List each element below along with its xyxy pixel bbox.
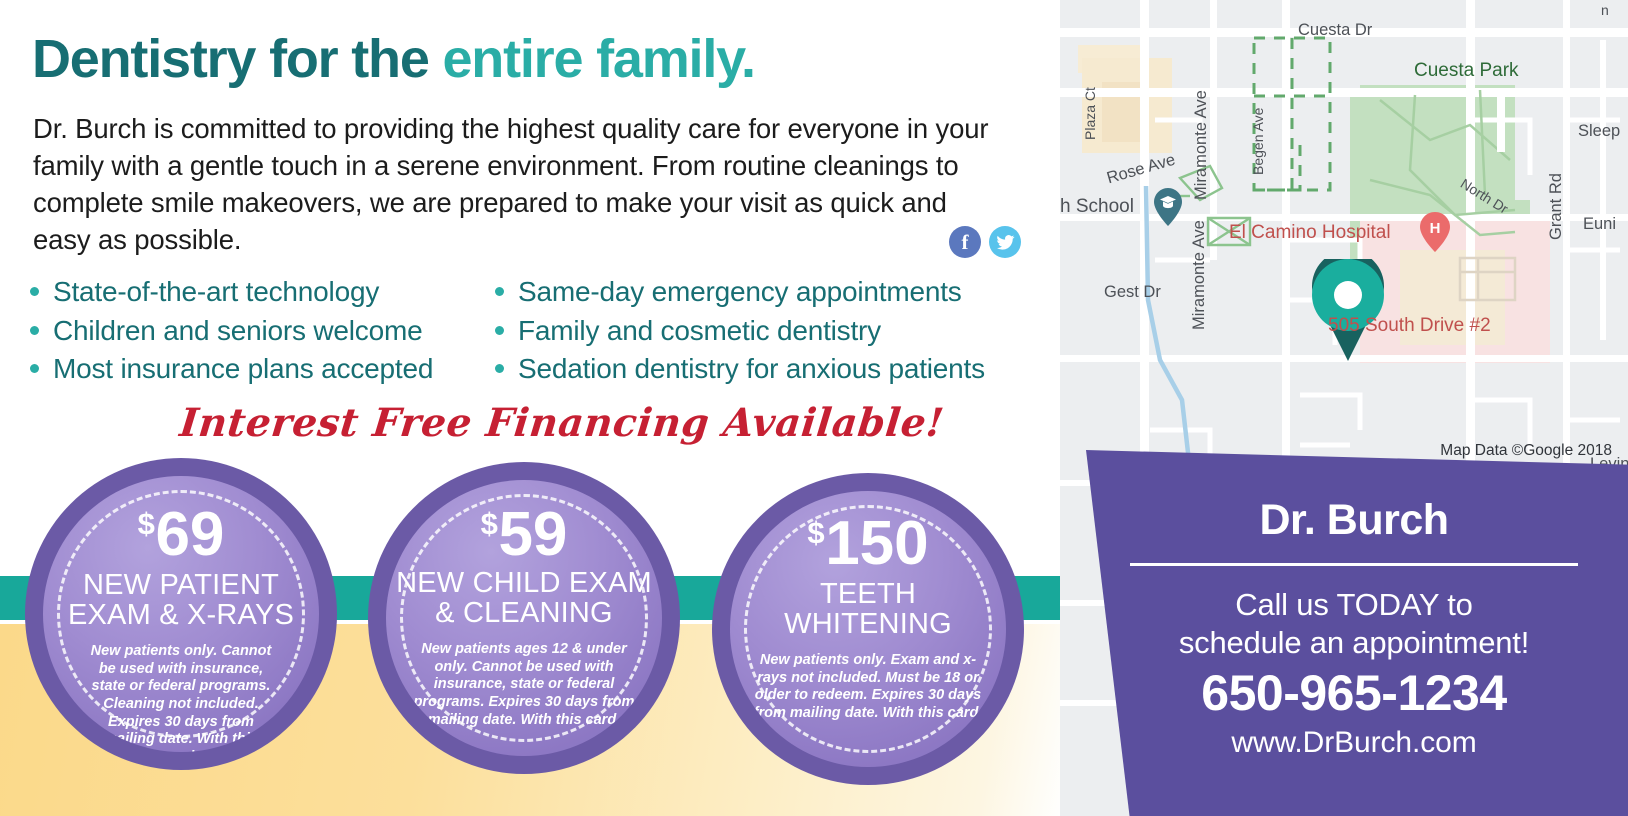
price-amount: 150: [825, 513, 928, 575]
cta-line-one: Call us TODAY to: [1130, 586, 1578, 624]
bullet-dot-icon: [495, 364, 504, 373]
call-to-action: Call us TODAY to schedule an appointment…: [1130, 586, 1578, 662]
map-label-el-camino-hospital: El Camino Hospital: [1229, 222, 1391, 244]
website-url[interactable]: www.DrBurch.com: [1130, 726, 1578, 760]
cta-line-two: schedule an appointment!: [1130, 624, 1578, 662]
price-amount: 59: [498, 504, 567, 566]
coupon-circle-child-exam[interactable]: $59 NEW CHILD EXAM & CLEANING New patien…: [368, 462, 680, 774]
map-label-high-school: h School: [1060, 196, 1134, 218]
coupon-price: $150: [807, 513, 928, 575]
map-label-miramonte-ave-north: Miramonte Ave: [1192, 90, 1211, 200]
bullet-label: Most insurance plans accepted: [53, 350, 433, 389]
facebook-glyph: f: [962, 230, 969, 255]
list-item: Children and seniors welcome: [30, 312, 495, 351]
hospital-marker-icon: H: [1420, 212, 1450, 252]
bullet-dot-icon: [30, 326, 39, 335]
financing-headline: Interest Free Financing Available!: [178, 400, 947, 446]
dental-mailer-card: Dentistry for the entire family. Dr. Bur…: [0, 0, 1628, 816]
bullet-label: Same-day emergency appointments: [518, 273, 962, 312]
coupon-fine-print: New patients only. Cannot be used with i…: [85, 643, 277, 752]
school-pin-icon: [1154, 188, 1182, 226]
map-label-lane: n: [1601, 2, 1609, 18]
map-attribution: Map Data ©Google 2018: [1440, 442, 1612, 460]
facebook-icon[interactable]: f: [949, 226, 981, 258]
map-label-miramonte-ave-south: Miramonte Ave: [1190, 220, 1209, 330]
social-links: f: [949, 226, 1021, 258]
coupon-title-line2: & CLEANING: [396, 598, 652, 628]
twitter-bird-glyph: [996, 233, 1015, 252]
bullet-dot-icon: [495, 326, 504, 335]
list-item: Most insurance plans accepted: [30, 350, 495, 389]
map-label-cuesta-dr: Cuesta Dr: [1298, 21, 1372, 40]
coupon-inner: $69 NEW PATIENT EXAM & X-RAYS New patien…: [43, 476, 319, 752]
coupon-circle-new-patient[interactable]: $69 NEW PATIENT EXAM & X-RAYS New patien…: [25, 458, 337, 770]
practice-name: Dr. Burch: [1130, 496, 1578, 545]
headline-part-one: Dentistry for the: [32, 29, 442, 89]
coupon-title: TEETH WHITENING: [784, 579, 952, 640]
map-label-begen-ave: Begen Ave: [1250, 108, 1266, 175]
headline-part-two: entire family.: [442, 29, 754, 89]
coupon-title-line2: WHITENING: [784, 609, 952, 639]
intro-paragraph: Dr. Burch is committed to providing the …: [33, 110, 1008, 258]
coupon-price: $69: [138, 504, 225, 566]
list-item: Sedation dentistry for anxious patients: [495, 350, 1055, 389]
bullet-column-left: State-of-the-art technology Children and…: [30, 273, 495, 389]
map-label-cuesta-park: Cuesta Park: [1414, 60, 1519, 82]
coupon-inner: $150 TEETH WHITENING New patients only. …: [730, 491, 1006, 767]
coupon-title-line1: NEW PATIENT: [68, 570, 294, 600]
price-amount: 69: [155, 504, 224, 566]
coupon-title-line1: NEW CHILD EXAM: [396, 568, 652, 598]
twitter-icon[interactable]: [989, 226, 1021, 258]
coupon-title-line1: TEETH: [784, 579, 952, 609]
coupon-price: $59: [481, 504, 568, 566]
coupon-title-line2: EXAM & X-RAYS: [68, 600, 294, 630]
currency-symbol: $: [481, 508, 498, 539]
coupon-title: NEW PATIENT EXAM & X-RAYS: [68, 570, 294, 631]
currency-symbol: $: [807, 517, 824, 548]
svg-text:H: H: [1430, 220, 1441, 237]
bullet-dot-icon: [30, 287, 39, 296]
bullet-column-right: Same-day emergency appointments Family a…: [495, 273, 1055, 389]
coupon-inner: $59 NEW CHILD EXAM & CLEANING New patien…: [386, 480, 662, 756]
bullet-label: Children and seniors welcome: [53, 312, 422, 351]
bullet-dot-icon: [495, 287, 504, 296]
coupon-circle-teeth-whitening[interactable]: $150 TEETH WHITENING New patients only. …: [712, 473, 1024, 785]
map-label-sleeper: Sleep: [1578, 122, 1620, 141]
map-label-gest-dr: Gest Dr: [1104, 283, 1161, 302]
map-label-grant-rd: Grant Rd: [1547, 173, 1566, 240]
bullet-label: Sedation dentistry for anxious patients: [518, 350, 985, 389]
currency-symbol: $: [138, 508, 155, 539]
map-address-label: 505 South Drive #2: [1328, 315, 1491, 337]
list-item: Family and cosmetic dentistry: [495, 312, 1055, 351]
office-location-pin-icon: [1312, 259, 1384, 361]
list-item: State-of-the-art technology: [30, 273, 495, 312]
coupon-fine-print: New patients only. Exam and x-rays not i…: [752, 652, 984, 723]
map-label-eunice: Euni: [1583, 215, 1616, 234]
coupon-fine-print: New patients ages 12 & under only. Canno…: [407, 641, 642, 729]
phone-number[interactable]: 650-965-1234: [1130, 664, 1578, 722]
coupon-title: NEW CHILD EXAM & CLEANING: [396, 568, 652, 629]
services-bullet-list: State-of-the-art technology Children and…: [30, 273, 1055, 389]
contact-inner: Dr. Burch Call us TODAY to schedule an a…: [1130, 496, 1578, 760]
list-item: Same-day emergency appointments: [495, 273, 1055, 312]
page-title: Dentistry for the entire family.: [32, 28, 755, 90]
map-label-plaza-ct: Plaza Ct: [1082, 87, 1098, 140]
bullet-dot-icon: [30, 364, 39, 373]
divider: [1130, 563, 1578, 566]
bullet-label: State-of-the-art technology: [53, 273, 379, 312]
bullet-label: Family and cosmetic dentistry: [518, 312, 881, 351]
